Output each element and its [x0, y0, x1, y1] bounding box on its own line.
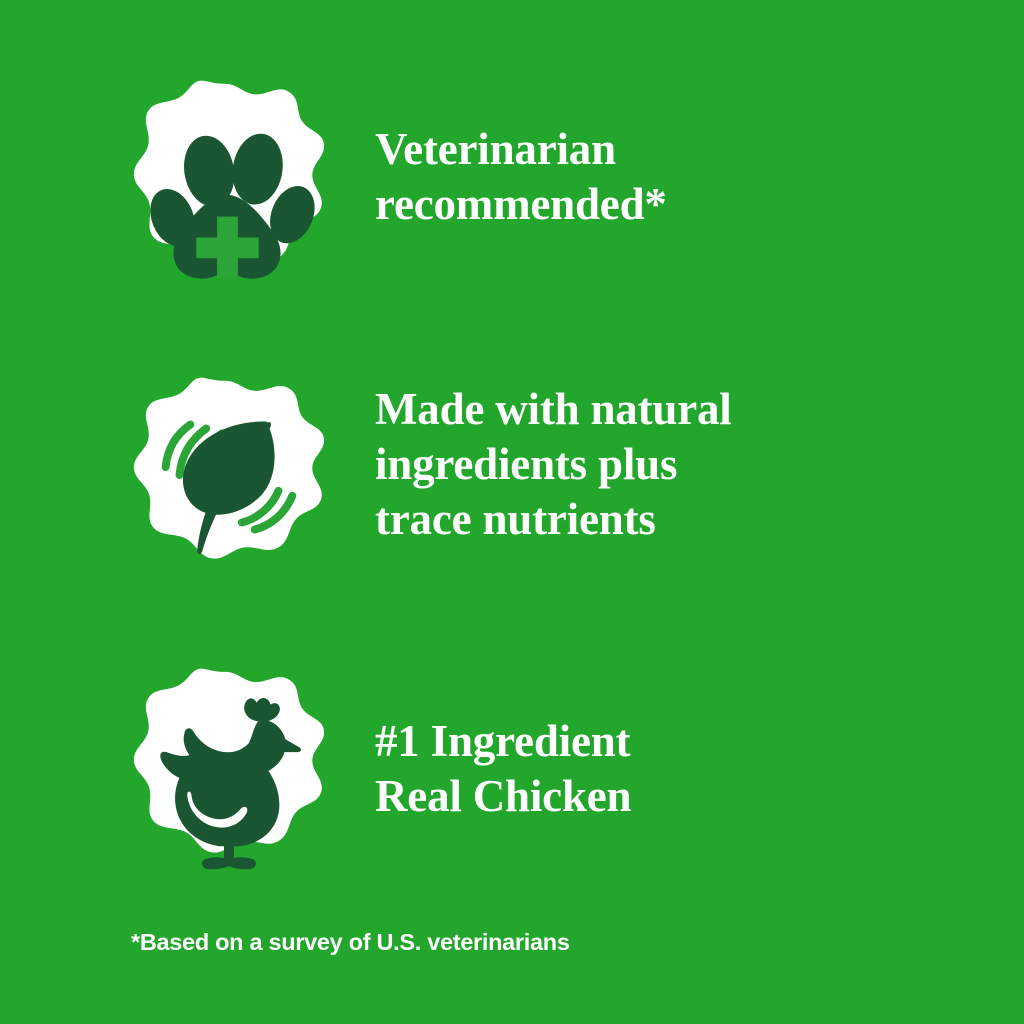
- benefit-label-real-chicken: #1 Ingredient Real Chicken: [375, 714, 995, 824]
- chicken-silhouette-icon: [128, 662, 326, 874]
- badge-veterinarian-recommended: [128, 72, 326, 292]
- leaf-with-motion-arcs-icon: [128, 372, 326, 582]
- badge-natural-ingredients: [128, 372, 326, 582]
- paw-with-medical-cross-icon: [128, 72, 326, 292]
- badge-real-chicken: [128, 662, 326, 874]
- benefit-label-veterinarian-recommended: Veterinarian recommended*: [375, 122, 995, 232]
- footnote-disclaimer: *Based on a survey of U.S. veterinarians: [131, 928, 570, 956]
- benefit-label-natural-ingredients: Made with natural ingredients plus trace…: [375, 382, 995, 547]
- benefits-panel: Veterinarian recommended*: [0, 0, 1024, 1024]
